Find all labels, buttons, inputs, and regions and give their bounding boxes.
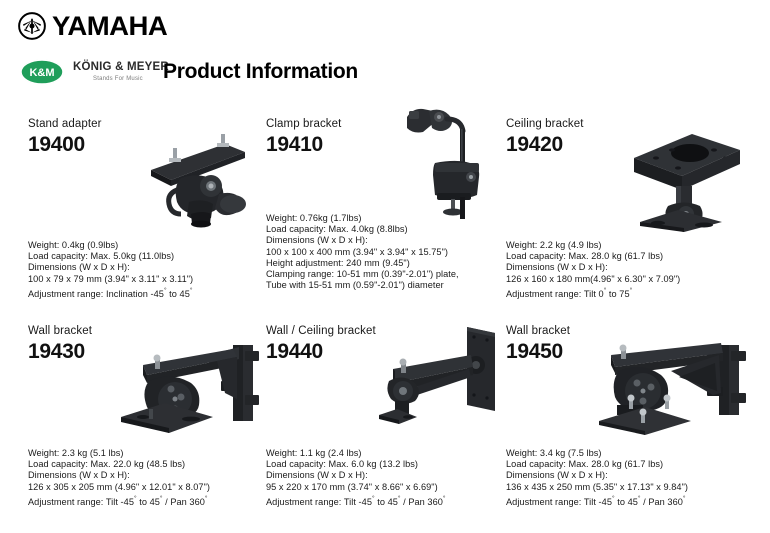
product-specs-19450: Weight: 3.4 kg (7.5 lbs) Load capacity: … (506, 448, 688, 508)
yamaha-tuning-fork-icon (18, 12, 46, 40)
product-name: Wall bracket (506, 325, 754, 338)
spec-line: 126 x 160 x 180 mm(4.96" x 6.30" x 7.09"… (506, 274, 680, 285)
product-name: Stand adapter (28, 118, 276, 131)
spec-line: Load capacity: Max. 6.0 kg (13.2 lbs) (266, 459, 446, 470)
spec-line: Dimensions (W x D x H): (506, 262, 680, 273)
yamaha-wordmark: YAMAHA (52, 13, 167, 40)
product-model: 19450 (506, 340, 754, 364)
product-name: Wall bracket (28, 325, 276, 338)
spec-line: 136 x 435 x 250 mm (5.35" x 17.13" x 9.8… (506, 482, 688, 493)
product-specs-19410: Weight: 0.76kg (1.7lbs) Load capacity: M… (266, 213, 459, 291)
spec-line: Load capacity: Max. 22.0 kg (48.5 lbs) (28, 459, 210, 470)
product-specs-19430: Weight: 2.3 kg (5.1 lbs) Load capacity: … (28, 448, 210, 508)
spec-line: Dimensions (W x D x H): (266, 470, 446, 481)
spec-line: Dimensions (W x D x H): (28, 262, 193, 273)
km-brand-lockup: K&M KÖNIG & MEYER Stands For Music (20, 59, 169, 85)
spec-line: 126 x 305 x 205 mm (4.96" x 12.01" x 8.0… (28, 482, 210, 493)
spec-line: Weight: 0.4kg (0.9lbs) (28, 240, 193, 251)
product-model: 19430 (28, 340, 276, 364)
spec-line: 100 x 100 x 400 mm (3.94" x 3.94" x 15.7… (266, 247, 459, 258)
spec-line: Weight: 2.2 kg (4.9 lbs) (506, 240, 680, 251)
spec-line: Weight: 3.4 kg (7.5 lbs) (506, 448, 688, 459)
spec-line: Dimensions (W x D x H): (506, 470, 688, 481)
product-card-19450: Wall bracket 19450 (506, 325, 754, 364)
product-name: Clamp bracket (266, 118, 514, 131)
product-card-19440: Wall / Ceiling bracket 19440 (266, 325, 514, 364)
spec-line: Adjustment range: Tilt -45° to 45° / Pan… (28, 493, 210, 508)
spec-line: Load capacity: Max. 28.0 kg (61.7 lbs) (506, 459, 688, 470)
svg-text:K&M: K&M (29, 67, 54, 79)
spec-line: Clamping range: 10-51 mm (0.39"-2.01") p… (266, 269, 459, 280)
spec-line: Adjustment range: Tilt -45° to 45° / Pan… (266, 493, 446, 508)
km-brand-name: KÖNIG & MEYER (73, 62, 169, 74)
product-model: 19400 (28, 133, 276, 157)
km-tagline: Stands For Music (93, 76, 169, 82)
product-specs-19420: Weight: 2.2 kg (4.9 lbs) Load capacity: … (506, 240, 680, 300)
spec-line: 95 x 220 x 170 mm (3.74" x 8.66" x 6.69"… (266, 482, 446, 493)
spec-line: Weight: 1.1 kg (2.4 lbs) (266, 448, 446, 459)
spec-line: Adjustment range: Inclination -45° to 45… (28, 285, 193, 300)
product-card-19420: Ceiling bracket 19420 (506, 118, 754, 157)
page-title: Product Information (163, 60, 358, 83)
spec-line: Adjustment range: Tilt -45° to 45° / Pan… (506, 493, 688, 508)
product-name: Wall / Ceiling bracket (266, 325, 514, 338)
spec-line: Height adjustment: 240 mm (9.45") (266, 258, 459, 269)
product-model: 19420 (506, 133, 754, 157)
product-specs-19440: Weight: 1.1 kg (2.4 lbs) Load capacity: … (266, 448, 446, 508)
product-model: 19410 (266, 133, 514, 157)
spec-line: Load capacity: Max. 4.0kg (8.8lbs) (266, 224, 459, 235)
product-card-19430: Wall bracket 19430 (28, 325, 276, 364)
spec-line: 100 x 79 x 79 mm (3.94" x 3.11" x 3.11") (28, 274, 193, 285)
spec-line: Load capacity: Max. 28.0 kg (61.7 lbs) (506, 251, 680, 262)
product-model: 19440 (266, 340, 514, 364)
spec-line: Load capacity: Max. 5.0kg (11.0lbs) (28, 251, 193, 262)
product-card-19410: Clamp bracket 19410 (266, 118, 514, 157)
spec-line: Weight: 0.76kg (1.7lbs) (266, 213, 459, 224)
spec-line: Tube with 15-51 mm (0.59"-2.01") diamete… (266, 280, 459, 291)
product-name: Ceiling bracket (506, 118, 754, 131)
spec-line: Dimensions (W x D x H): (28, 470, 210, 481)
yamaha-logo: YAMAHA (18, 12, 165, 40)
product-specs-19400: Weight: 0.4kg (0.9lbs) Load capacity: Ma… (28, 240, 193, 300)
spec-line: Dimensions (W x D x H): (266, 235, 459, 246)
spec-line: Weight: 2.3 kg (5.1 lbs) (28, 448, 210, 459)
km-badge-icon: K&M (20, 59, 64, 85)
spec-line: Adjustment range: Tilt 0° to 75° (506, 285, 680, 300)
product-card-19400: Stand adapter 19400 (28, 118, 276, 157)
